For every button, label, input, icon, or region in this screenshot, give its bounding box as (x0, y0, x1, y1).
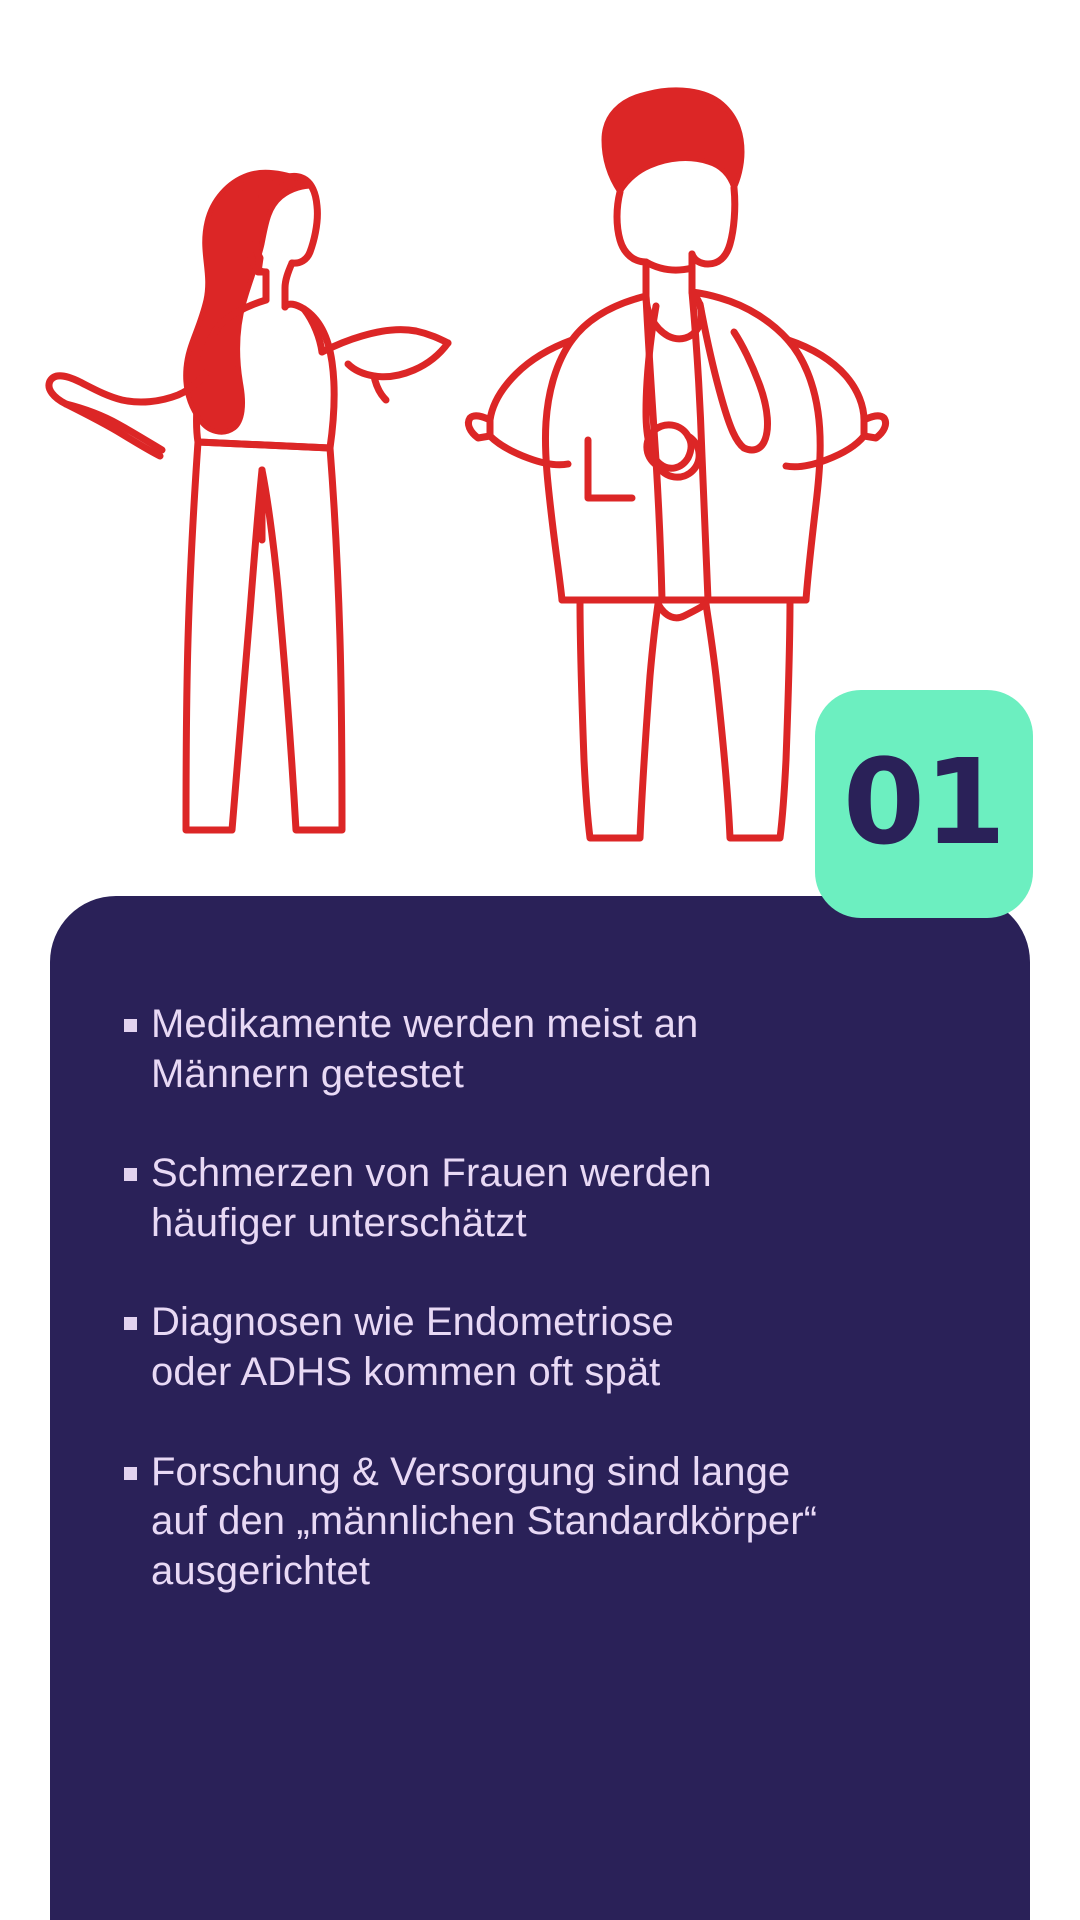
bullet-square-icon (124, 1317, 137, 1330)
list-item: Medikamente werden meist an Männern gete… (124, 1000, 970, 1099)
doctor-crotch (658, 604, 706, 618)
woman-waistband (198, 442, 330, 448)
step-number-text: 01 (843, 743, 1005, 861)
bullet-square-icon (124, 1467, 137, 1480)
list-item-text: Schmerzen von Frauen werden häufiger unt… (151, 1149, 712, 1248)
list-item-text: Medikamente werden meist an Männern gete… (151, 1000, 698, 1099)
doctor-face (617, 192, 646, 296)
list-item: Schmerzen von Frauen werden häufiger unt… (124, 1149, 970, 1248)
list-item: Diagnosen wie Endometriose oder ADHS kom… (124, 1298, 970, 1397)
list-item-text: Forschung & Versorgung sind lange auf de… (151, 1448, 817, 1597)
woman-trousers-right (262, 448, 342, 830)
doctor-face-right (692, 188, 735, 264)
doctor-hair (604, 90, 742, 192)
stethoscope-earpiece (734, 332, 767, 450)
doctor-right-forearm (786, 436, 864, 467)
doctor-trousers-right (706, 600, 790, 838)
bullet-square-icon (124, 1019, 137, 1032)
slide-canvas: 01 Medikamente werden meist an Männern g… (0, 0, 1080, 1920)
doctor-jaw (646, 262, 692, 270)
list-item: Forschung & Versorgung sind lange auf de… (124, 1448, 970, 1597)
doctor-coat-pocket (588, 440, 632, 498)
woman-right-arm (322, 330, 448, 352)
doctor-left-forearm (490, 436, 568, 465)
woman-left-arm (49, 372, 207, 456)
facts-bullet-list: Medikamente werden meist an Männern gete… (124, 1000, 970, 1596)
bullet-square-icon (124, 1168, 137, 1181)
stethoscope-right-tube (700, 304, 744, 448)
woman-chin (285, 263, 292, 307)
doctor-trousers-left (580, 600, 658, 838)
woman-right-hand (348, 343, 448, 377)
list-item-text: Diagnosen wie Endometriose oder ADHS kom… (151, 1298, 674, 1397)
woman-trousers (186, 442, 262, 830)
step-number-badge: 01 (815, 690, 1033, 918)
facts-card: Medikamente werden meist an Männern gete… (50, 896, 1030, 1920)
